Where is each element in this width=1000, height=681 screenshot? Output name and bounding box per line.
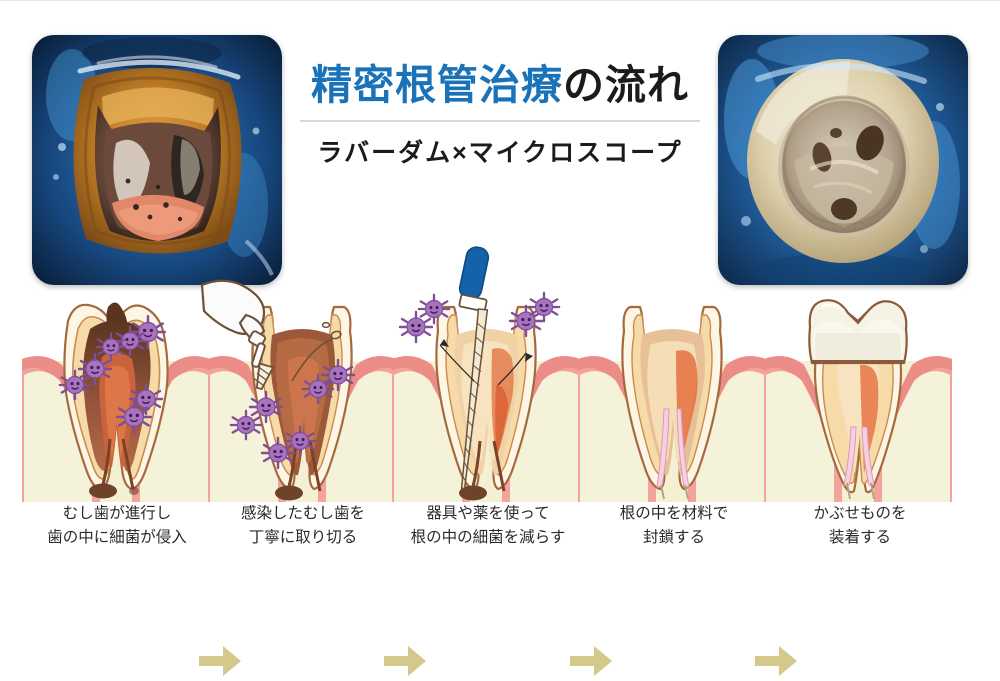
caption-step-4-line1: 根の中を材料で (569, 501, 779, 525)
tooth-diagram-sealed (578, 289, 766, 504)
photo-infected-tooth-microscope (32, 35, 282, 285)
caption-step-5-line2: 装着する (755, 525, 965, 549)
dental-crown (809, 300, 906, 363)
step-arrow-4 (753, 641, 799, 681)
title-rest: の流れ (563, 62, 689, 108)
tooth-diagram-filing (392, 289, 580, 504)
step-clean-canals (392, 289, 580, 504)
caption-step-1: むし歯が進行し 歯の中に細菌が侵入 (12, 501, 222, 549)
page-subtitle: ラバーダム×マイクロスコープ (280, 133, 720, 169)
step-arrow-2 (382, 641, 428, 681)
caption-step-3-line1: 器具や薬を使って (383, 501, 593, 525)
step-decay-progression (22, 289, 210, 504)
page-title: 精密根管治療の流れ (280, 63, 720, 108)
step-arrow-1 (197, 641, 243, 681)
tooth-diagram-crowned (764, 289, 952, 504)
step-seal-canals (578, 289, 766, 504)
infographic-canvas: 精密根管治療の流れ ラバーダム×マイクロスコープ (0, 0, 1000, 563)
photo-cleaned-pulp-chamber-microscope (718, 35, 968, 285)
tooth-diagram-drilling (208, 289, 396, 504)
caption-step-3: 器具や薬を使って 根の中の細菌を減らす (383, 501, 593, 549)
caption-step-4-line2: 封鎖する (569, 525, 779, 549)
header-block: 精密根管治療の流れ ラバーダム×マイクロスコープ (280, 63, 720, 169)
step-captions-row: むし歯が進行し 歯の中に細菌が侵入 感染したむし歯を 丁寧に取り切る 器具や薬を… (0, 501, 1000, 561)
caption-step-4: 根の中を材料で 封鎖する (569, 501, 779, 549)
tooth-diagram-decayed (22, 289, 210, 504)
title-highlight: 精密根管治療 (311, 62, 563, 108)
caption-step-1-line2: 歯の中に細菌が侵入 (12, 525, 222, 549)
caption-step-2: 感染したむし歯を 丁寧に取り切る (198, 501, 408, 549)
step-place-crown (764, 289, 952, 504)
treatment-steps-row (0, 289, 1000, 504)
caption-step-1-line1: むし歯が進行し (12, 501, 222, 525)
step-remove-infected-decay (208, 289, 396, 504)
photo-right-artwork (718, 35, 968, 285)
title-divider (300, 120, 700, 122)
caption-step-3-line2: 根の中の細菌を減らす (383, 525, 593, 549)
photo-left-artwork (32, 35, 282, 285)
caption-step-2-line1: 感染したむし歯を (198, 501, 408, 525)
caption-step-5-line1: かぶせものを (755, 501, 965, 525)
step-arrow-3 (568, 641, 614, 681)
caption-step-5: かぶせものを 装着する (755, 501, 965, 549)
caption-step-2-line2: 丁寧に取り切る (198, 525, 408, 549)
